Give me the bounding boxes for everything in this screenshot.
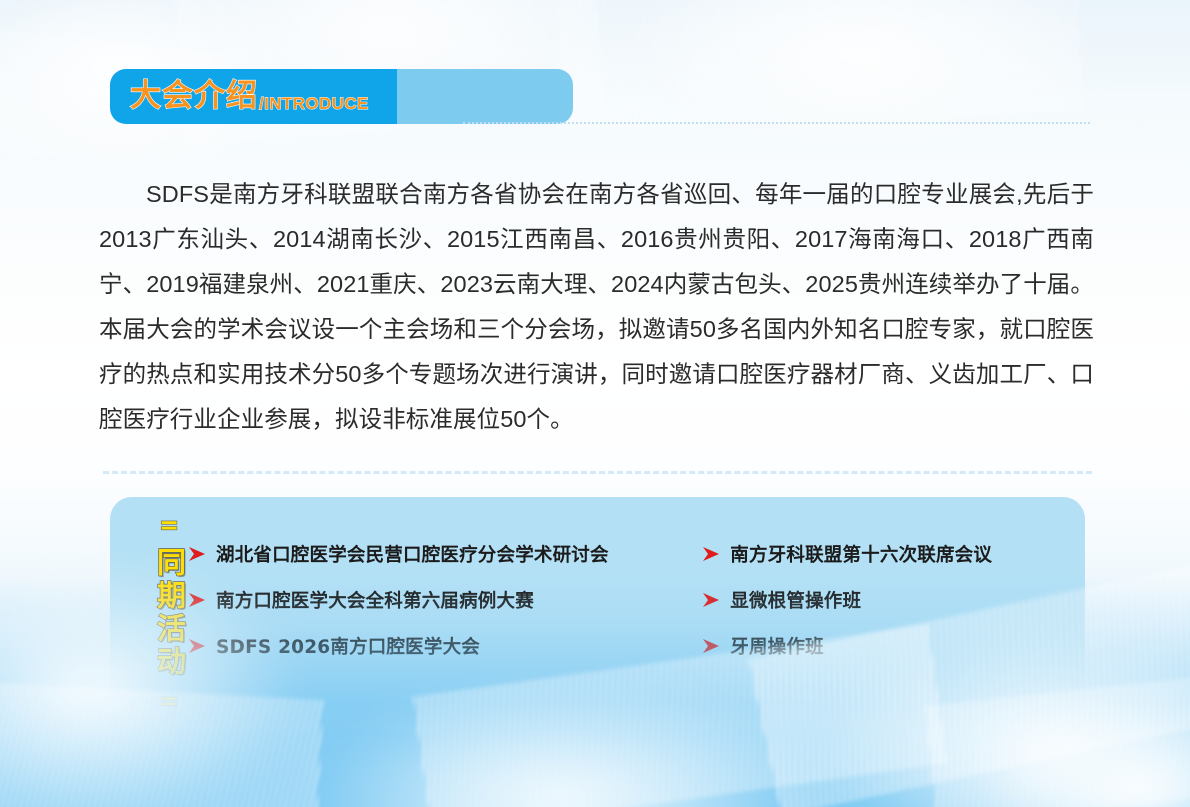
activities-left-column: 湖北省口腔医学会民营口腔医疗分会学术研讨会 南方口腔医学大会全科第六届病例大赛 …	[188, 531, 702, 669]
activities-columns: 湖北省口腔医学会民营口腔医疗分会学术研讨会 南方口腔医学大会全科第六届病例大赛 …	[188, 531, 1071, 669]
intro-paragraph: SDFS是南方牙科联盟联合南方各省协会在南方各省巡回、每年一届的口腔专业展会,先…	[99, 172, 1094, 442]
label-mark-bottom: =	[159, 689, 179, 713]
activities-right-column: 南方牙科联盟第十六次联席会议 显微根管操作班 牙周操作班	[702, 531, 1071, 669]
section-divider	[103, 471, 1092, 474]
poster-page: 大会介绍 /INTRODUCE SDFS是南方牙科联盟联合南方各省协会在南方各省…	[0, 0, 1190, 807]
activity-item[interactable]: 南方牙科联盟第十六次联席会议	[702, 531, 1071, 577]
header-dotted-rule	[463, 122, 1090, 124]
arrow-bullet-icon	[188, 546, 207, 562]
activity-item[interactable]: 牙周操作班	[702, 623, 1071, 669]
activity-label: 显微根管操作班	[730, 587, 861, 613]
label-mark-top: =	[159, 513, 179, 537]
arrow-bullet-icon	[188, 592, 207, 608]
arrow-bullet-icon	[702, 546, 721, 562]
activities-label-text: 同期活动	[153, 547, 186, 679]
cloud-decoration	[620, 0, 1100, 150]
activity-item[interactable]: 南方口腔医学大会全科第六届病例大赛	[188, 577, 702, 623]
banner-primary-shape: 大会介绍 /INTRODUCE	[110, 69, 397, 124]
arrow-bullet-icon	[188, 638, 207, 654]
activity-label: SDFS 2026南方口腔医学大会	[216, 633, 480, 659]
activity-item[interactable]: 显微根管操作班	[702, 577, 1071, 623]
arrow-bullet-icon	[702, 638, 721, 654]
cloud-streak-decoration	[558, 0, 1083, 129]
activity-label: 湖北省口腔医学会民营口腔医疗分会学术研讨会	[216, 541, 609, 567]
section-title-cn: 大会介绍	[130, 81, 258, 112]
activity-label: 牙周操作班	[730, 633, 824, 659]
activity-label: 南方口腔医学大会全科第六届病例大赛	[216, 587, 534, 613]
concurrent-activities-card: = 同期活动 = 湖北省口腔医学会民营口腔医疗分会学术研讨会 南方口腔医学大会全…	[110, 497, 1085, 729]
activity-label: 南方牙科联盟第十六次联席会议	[730, 541, 992, 567]
activity-item[interactable]: SDFS 2026南方口腔医学大会	[188, 623, 702, 669]
activity-item[interactable]: 湖北省口腔医学会民营口腔医疗分会学术研讨会	[188, 531, 702, 577]
arrow-bullet-icon	[702, 592, 721, 608]
section-title-en: /INTRODUCE	[259, 95, 369, 124]
